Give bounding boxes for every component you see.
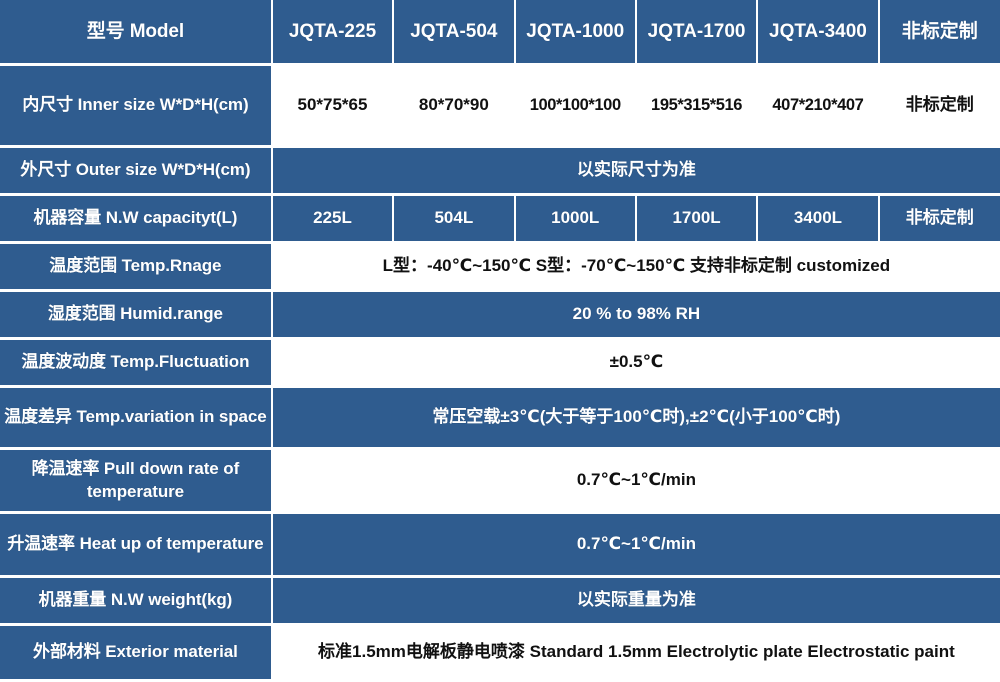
cell-inner-504: 80*70*90	[394, 66, 515, 148]
table-row-model: 型号 Model JQTA-225 JQTA-504 JQTA-1000 JQT…	[0, 0, 1000, 66]
table-row-pull-down-rate: 降温速率 Pull down rate of temperature 0.7℃~…	[0, 450, 1000, 514]
row-label-temp-range: 温度范围 Temp.Rnage	[0, 244, 273, 292]
cell-inner-1700: 195*315*516	[637, 66, 758, 148]
cell-capacity-custom: 非标定制	[880, 196, 1000, 244]
table-row-temp-range: 温度范围 Temp.Rnage L型：-40℃~150℃ S型：-70℃~150…	[0, 244, 1000, 292]
cell-model-1700: JQTA-1700	[637, 0, 758, 66]
cell-inner-1000: 100*100*100	[516, 66, 637, 148]
cell-capacity-1700: 1700L	[637, 196, 758, 244]
cell-capacity-225: 225L	[273, 196, 394, 244]
cell-model-custom: 非标定制	[880, 0, 1000, 66]
cell-inner-custom: 非标定制	[880, 66, 1000, 148]
cell-temp-range-value: L型：-40℃~150℃ S型：-70℃~150℃ 支持非标定制 customi…	[273, 244, 1000, 292]
row-label-inner-size: 内尺寸 Inner size W*D*H(cm)	[0, 66, 273, 148]
cell-capacity-1000: 1000L	[516, 196, 637, 244]
cell-capacity-504: 504L	[394, 196, 515, 244]
table-row-inner-size: 内尺寸 Inner size W*D*H(cm) 50*75*65 80*70*…	[0, 66, 1000, 148]
row-label-temp-variation: 温度差异 Temp.variation in space	[0, 388, 273, 450]
table-row-weight: 机器重量 N.W weight(kg) 以实际重量为准	[0, 578, 1000, 626]
row-label-heat-up-rate: 升温速率 Heat up of temperature	[0, 514, 273, 578]
table-row-heat-up-rate: 升温速率 Heat up of temperature 0.7℃~1℃/min	[0, 514, 1000, 578]
table-row-temp-variation: 温度差异 Temp.variation in space 常压空载±3℃(大于等…	[0, 388, 1000, 450]
cell-pull-down-rate-value: 0.7℃~1℃/min	[273, 450, 1000, 514]
cell-model-1000: JQTA-1000	[516, 0, 637, 66]
table-row-humid-range: 湿度范围 Humid.range 20 % to 98% RH	[0, 292, 1000, 340]
row-label-model: 型号 Model	[0, 0, 273, 66]
row-label-humid-range: 湿度范围 Humid.range	[0, 292, 273, 340]
cell-weight-value: 以实际重量为准	[273, 578, 1000, 626]
cell-model-3400: JQTA-3400	[758, 0, 879, 66]
table-row-capacity: 机器容量 N.W capacityt(L) 225L 504L 1000L 17…	[0, 196, 1000, 244]
row-label-temp-fluctuation: 温度波动度 Temp.Fluctuation	[0, 340, 273, 388]
cell-model-225: JQTA-225	[273, 0, 394, 66]
cell-inner-225: 50*75*65	[273, 66, 394, 148]
cell-outer-size-value: 以实际尺寸为准	[273, 148, 1000, 196]
row-label-weight: 机器重量 N.W weight(kg)	[0, 578, 273, 626]
cell-capacity-3400: 3400L	[758, 196, 879, 244]
row-label-exterior-material: 外部材料 Exterior material	[0, 626, 273, 682]
row-label-pull-down-rate: 降温速率 Pull down rate of temperature	[0, 450, 273, 514]
specification-table: 型号 Model JQTA-225 JQTA-504 JQTA-1000 JQT…	[0, 0, 1000, 682]
cell-inner-3400: 407*210*407	[758, 66, 879, 148]
table-row-outer-size: 外尺寸 Outer size W*D*H(cm) 以实际尺寸为准	[0, 148, 1000, 196]
cell-heat-up-rate-value: 0.7℃~1℃/min	[273, 514, 1000, 578]
cell-humid-range-value: 20 % to 98% RH	[273, 292, 1000, 340]
cell-model-504: JQTA-504	[394, 0, 515, 66]
cell-exterior-material-value: 标准1.5mm电解板静电喷漆 Standard 1.5mm Electrolyt…	[273, 626, 1000, 682]
table-row-temp-fluctuation: 温度波动度 Temp.Fluctuation ±0.5℃	[0, 340, 1000, 388]
table-row-exterior-material: 外部材料 Exterior material 标准1.5mm电解板静电喷漆 St…	[0, 626, 1000, 682]
cell-temp-variation-value: 常压空载±3℃(大于等于100℃时),±2℃(小于100℃时)	[273, 388, 1000, 450]
row-label-capacity: 机器容量 N.W capacityt(L)	[0, 196, 273, 244]
cell-temp-fluctuation-value: ±0.5℃	[273, 340, 1000, 388]
row-label-outer-size: 外尺寸 Outer size W*D*H(cm)	[0, 148, 273, 196]
